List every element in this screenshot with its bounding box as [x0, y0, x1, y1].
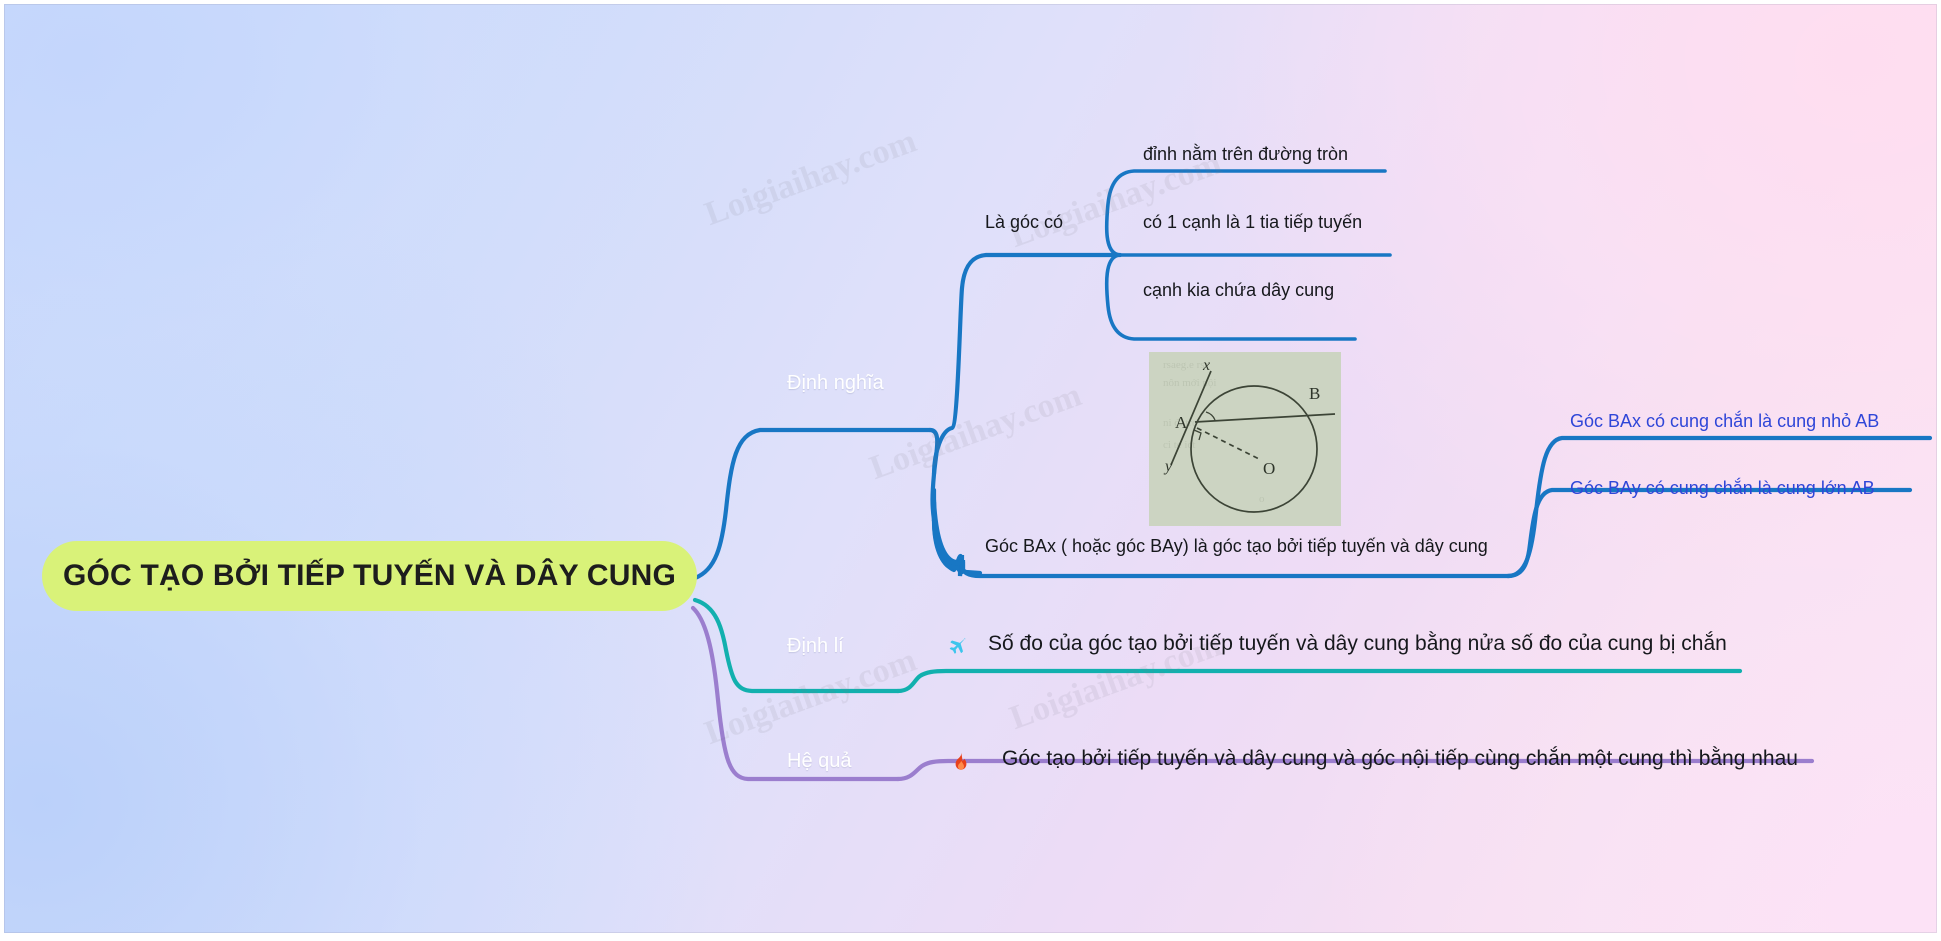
svg-text:rsaeg.e rsr: rsaeg.e rsr	[1163, 359, 1209, 371]
figure-label-x: x	[1202, 357, 1210, 374]
node-dinh-li-content[interactable]: Số đo của góc tạo bởi tiếp tuyến và dây …	[988, 632, 1727, 656]
figure-label-O: O	[1263, 459, 1275, 478]
branch-label-he-qua[interactable]: Hệ quả	[787, 750, 852, 773]
tangent-chord-angle-diagram: rsaeg.e rsr nôn mới nội ni đ. trợ ci te …	[1149, 352, 1341, 526]
node-figure-caption[interactable]: Góc BAx ( hoặc góc BAy) là góc tạo bởi t…	[985, 536, 1488, 557]
figure-label-B: B	[1309, 384, 1320, 403]
figure-label-A: A	[1175, 413, 1188, 432]
node-goc-bay-cung-lon[interactable]: Góc BAy có cung chắn là cung lớn AB	[1570, 478, 1875, 499]
node-co-1-canh-la-1-tia-tiep-tuyen[interactable]: có 1 cạnh là 1 tia tiếp tuyến	[1143, 212, 1362, 233]
root-node-label: GÓC TẠO BỞI TIẾP TUYẾN VÀ DÂY CUNG	[63, 559, 676, 593]
node-canh-kia-chua-day-cung[interactable]: cạnh kia chứa dây cung	[1143, 280, 1334, 301]
node-la-goc-co[interactable]: Là góc có	[985, 212, 1063, 233]
node-dinh-nam-tren-duong-tron[interactable]: đỉnh nằm trên đường tròn	[1143, 144, 1348, 165]
mindmap-canvas	[4, 4, 1937, 933]
node-goc-bax-cung-nho[interactable]: Góc BAx có cung chắn là cung nhỏ AB	[1570, 411, 1879, 432]
node-he-qua-content[interactable]: Góc tạo bởi tiếp tuyến và dây cung và gó…	[1002, 747, 1798, 771]
plane-icon	[947, 636, 969, 658]
branch-label-dinh-nghia[interactable]: Định nghĩa	[787, 372, 884, 395]
mindmap-page: Loigiaihay.com Loigiaihay.com Loigiaihay…	[0, 0, 1941, 941]
root-node[interactable]: GÓC TẠO BỞI TIẾP TUYẾN VÀ DÂY CUNG	[42, 541, 697, 611]
branch-label-dinh-li[interactable]: Định lí	[787, 635, 844, 658]
flame-icon	[950, 751, 972, 773]
svg-text:o: o	[1259, 493, 1265, 505]
figure-label-y: y	[1163, 458, 1173, 475]
